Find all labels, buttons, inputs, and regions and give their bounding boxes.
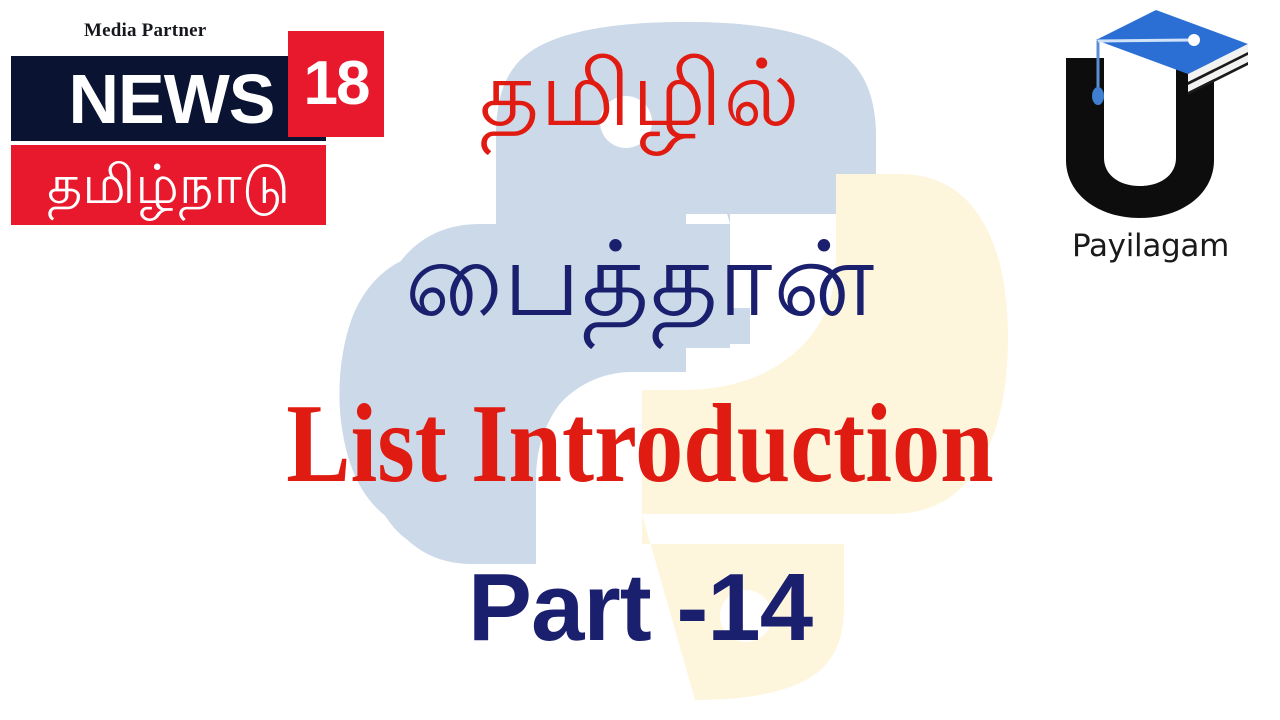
title-part-number: Part -14 bbox=[0, 560, 1280, 656]
media-partner-label: Media Partner bbox=[84, 20, 206, 42]
title-line-python-tamil: பைத்தான் bbox=[0, 228, 1280, 332]
title-slide: Media Partner NEWS 18 தமிழ்நாடு bbox=[0, 0, 1280, 720]
title-line-tamil-in: தமிழில் bbox=[0, 48, 1280, 140]
news18-region-label: தமிழ்நாடு bbox=[11, 145, 326, 225]
title-topic: List Introduction bbox=[90, 388, 1191, 500]
